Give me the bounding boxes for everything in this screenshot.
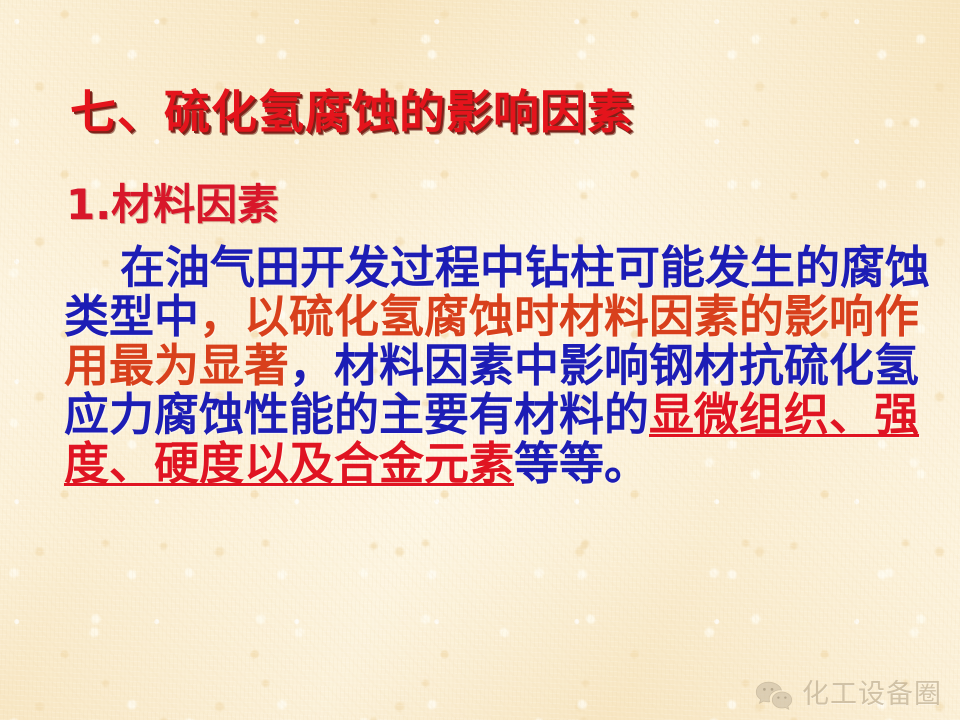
text-segment: 在油气田开发过程中钻柱可能发生的腐蚀 [120, 241, 930, 294]
wechat-icon [754, 680, 794, 710]
watermark: 化工设备圈 [754, 680, 942, 710]
text-segment: ，以硫化氢腐蚀时材料因素的影响作 [199, 290, 919, 343]
text-segment: 类型中 [64, 290, 199, 343]
body-line: 在油气田开发过程中钻柱可能发生的腐蚀 [64, 243, 932, 292]
body-line: 应力腐蚀性能的主要有材料的显微组织、强 [64, 390, 932, 439]
presentation-slide: 七、硫化氢腐蚀的影响因素 1.材料因素 在油气田开发过程中钻柱可能发生的腐蚀类型… [0, 0, 960, 720]
text-segment: 用最为显著 [64, 339, 289, 392]
text-segment: ，材料因素中影响钢材抗硫化氢 [289, 339, 919, 392]
text-segment: 等等。 [514, 437, 649, 490]
page-title: 七、硫化氢腐蚀的影响因素 [70, 84, 634, 140]
body-line: 度、硬度以及合金元素等等。 [64, 439, 932, 488]
section-heading: 1.材料因素 [66, 180, 279, 230]
body-line: 类型中，以硫化氢腐蚀时材料因素的影响作 [64, 292, 932, 341]
body-paragraph: 在油气田开发过程中钻柱可能发生的腐蚀类型中，以硫化氢腐蚀时材料因素的影响作用最为… [64, 243, 932, 488]
text-segment: 应力腐蚀性能的主要有材料的 [64, 388, 649, 441]
watermark-label: 化工设备圈 [802, 680, 942, 710]
text-segment: 显微组织、强 [649, 388, 919, 441]
text-segment: 度、硬度以及合金元素 [64, 437, 514, 490]
body-line: 用最为显著，材料因素中影响钢材抗硫化氢 [64, 341, 932, 390]
